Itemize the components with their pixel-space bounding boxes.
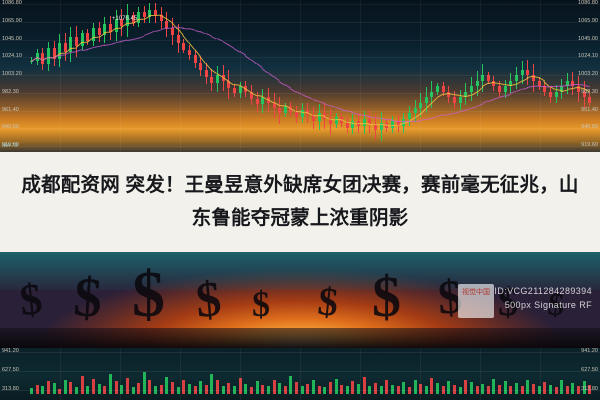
y-axis-tick-right: 1065.90 — [578, 18, 598, 24]
watermark-logo-label: 视觉中国 — [461, 288, 491, 297]
stock-photo: $ $ $ $ $ $ $ $ $ $ 视觉中国 ID:VCG211284289… — [0, 252, 600, 348]
chart-annotation-high: +1076.45 — [112, 16, 137, 22]
dollar-sign-icon: $ — [252, 286, 270, 322]
y-axis-tick-left: 961.40 — [2, 107, 19, 113]
dollar-sign-icon: $ — [316, 281, 340, 323]
y-axis-tick-left: 313.80 — [2, 386, 19, 392]
y-axis-tick-right: 313.80 — [581, 386, 598, 392]
y-axis-tick-left: 940.50 — [2, 124, 19, 130]
y-axis-tick-right: 940.50 — [581, 124, 598, 130]
bottom-chart-axis-labels: 941.20941.20627.50627.50313.80313.80 — [0, 348, 600, 400]
dollar-sign-icon: $ — [194, 273, 223, 325]
y-axis-tick-right: 627.50 — [581, 367, 598, 373]
watermark-logo: 视觉中国 — [458, 284, 494, 318]
y-axis-tick-right: 1003.20 — [578, 71, 598, 77]
y-axis-tick-left: 1065.90 — [2, 18, 22, 24]
headline-banner: 成都配资网 突发！王曼昱意外缺席女团决赛，赛前毫无征兆，山东鲁能夺冠蒙上浓重阴影 — [0, 152, 600, 252]
top-chart-axis-labels: 1086.801086.801065.901065.901045.001045.… — [0, 0, 600, 152]
y-axis-tick-right: 1086.80 — [578, 0, 598, 6]
dollar-sign-icon: $ — [18, 277, 44, 323]
dollar-sign-icon: $ — [372, 268, 401, 326]
y-axis-tick-left: 1003.20 — [2, 71, 22, 77]
dollar-sign-icon: $ — [72, 269, 104, 327]
bottom-volume-chart: 941.20941.20627.50627.50313.80313.80 — [0, 348, 600, 400]
headline-text: 成都配资网 突发！王曼昱意外缺席女团决赛，赛前毫无征兆，山东鲁能夺冠蒙上浓重阴影 — [12, 169, 588, 235]
watermark-id: ID:VCG211284289394 — [494, 286, 592, 296]
y-axis-tick-right: 1024.10 — [578, 53, 598, 59]
watermark-license: 500px Signature RF — [505, 300, 592, 310]
y-axis-tick-right: 919.60 — [581, 142, 598, 148]
y-axis-tick-left: 982.30 — [2, 89, 19, 95]
y-axis-tick-right: 941.20 — [581, 348, 598, 354]
y-axis-tick-right: 961.40 — [581, 107, 598, 113]
screenshot-root: 1086.801086.801065.901065.901045.001045.… — [0, 0, 600, 400]
dollar-sign-icon: $ — [132, 262, 165, 328]
chart-corner-label: MA 70 — [2, 143, 18, 149]
y-axis-tick-left: 627.50 — [2, 367, 19, 373]
y-axis-tick-left: 1024.10 — [2, 53, 22, 59]
y-axis-tick-left: 1045.00 — [2, 36, 22, 42]
photo-ground — [0, 328, 600, 348]
top-price-chart: 1086.801086.801065.901065.901045.001045.… — [0, 0, 600, 152]
y-axis-tick-right: 1045.00 — [578, 36, 598, 42]
y-axis-tick-left: 1086.80 — [2, 0, 22, 6]
y-axis-tick-right: 982.30 — [581, 89, 598, 95]
y-axis-tick-left: 941.20 — [2, 348, 19, 354]
